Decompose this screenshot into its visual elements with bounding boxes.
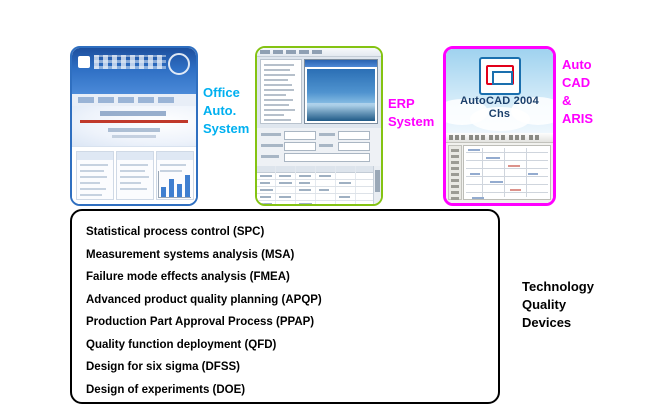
erp-grid-scrollbar[interactable] [373,166,381,204]
tech-label-line-3: Devices [522,314,632,332]
oa-hero-text-3 [112,135,156,138]
oa-header-pattern [94,55,166,69]
autocad-splash: AutoCAD 2004 Chs [446,49,553,133]
label-cad-line-1: Auto [562,56,632,74]
label-office-line-1: Office [203,84,263,102]
erp-menu-bar [257,48,381,57]
label-erp-system: ERP System [388,95,448,131]
erp-wallpaper-image [307,69,375,121]
tool-item: Statistical process control (SPC) [86,221,498,244]
erp-top-region [257,48,381,129]
autocad-splash-title: AutoCAD 2004 Chs [446,95,553,121]
tech-label-line-1: Technology [522,278,632,296]
label-office-line-2: Auto. [203,102,263,120]
oa-columns [72,147,196,204]
autocad-logo-icon [479,57,521,95]
tool-item: Advanced product quality planning (APQP) [86,289,498,312]
oa-body [72,106,196,204]
label-technology-quality-devices: Technology Quality Devices [522,278,632,332]
tool-item: Production Part Approval Process (PPAP) [86,311,498,334]
label-cad-line-2: CAD [562,74,632,92]
oa-bar-chart [158,171,191,198]
autocad-toolbar[interactable] [446,133,553,143]
oa-hero-divider [80,120,188,123]
erp-screenshot-content [257,48,381,204]
oa-logo-icon [78,56,90,68]
label-cad-line-3: & [562,92,632,110]
tech-label-line-2: Quality [522,296,632,314]
autocad-screenshot[interactable]: AutoCAD 2004 Chs [443,46,556,206]
autocad-drawing-canvas[interactable] [463,145,551,200]
oa-panel-mid [116,151,154,200]
office-automation-screenshot[interactable] [70,46,198,206]
autocad-tool-palette[interactable] [448,145,462,200]
label-cad-line-4: ARIS [562,110,632,128]
erp-screenshot[interactable] [255,46,383,206]
autocad-application-window [446,133,553,203]
erp-data-grid[interactable] [257,166,381,204]
autocad-title-line-1: AutoCAD 2004 [446,95,553,108]
oa-hero-text-1 [100,111,166,116]
label-office-automation-system: Office Auto. System [203,84,263,138]
oa-header-circle-icon [168,53,190,75]
diagram-canvas: AutoCAD 2004 Chs [0,0,665,420]
oa-hero-area [72,106,196,147]
tool-item: Failure mode effects analysis (FMEA) [86,266,498,289]
oa-screenshot-content [72,48,196,204]
tool-item: Quality function deployment (QFD) [86,334,498,357]
tool-item: Design for six sigma (DFSS) [86,356,498,379]
oa-hero-text-2 [108,128,160,132]
oa-panel-left [76,151,114,200]
label-erp-line-2: System [388,113,448,131]
label-autocad-aris: Auto CAD & ARIS [562,56,632,128]
erp-image-window [304,59,378,124]
label-office-line-3: System [203,120,263,138]
erp-window-titlebar [305,60,377,67]
label-erp-line-1: ERP [388,95,448,113]
erp-form-area [257,128,381,167]
autocad-screenshot-content: AutoCAD 2004 Chs [446,49,553,203]
tool-item: Measurement systems analysis (MSA) [86,244,498,267]
autocad-title-line-2: Chs [446,108,553,121]
quality-tools-box: Statistical process control (SPC) Measur… [70,209,500,404]
oa-header-banner [72,48,196,94]
tool-item: Design of experiments (DOE) [86,379,498,402]
erp-tree-pane [260,59,302,124]
